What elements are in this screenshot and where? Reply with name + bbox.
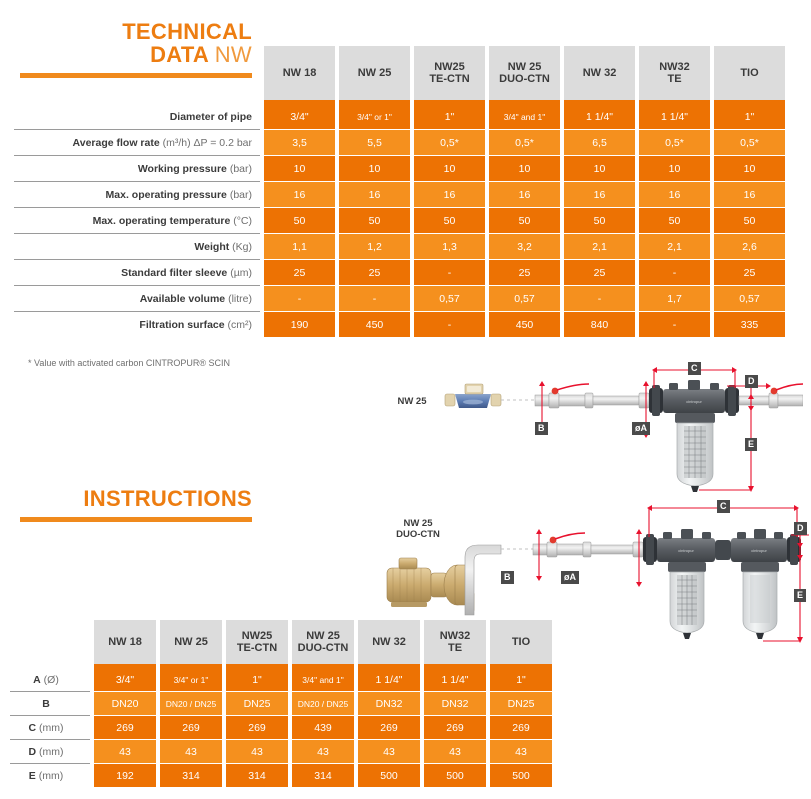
column-header-7[interactable]: TIO [714, 46, 785, 104]
data-cell: 1,3 [414, 234, 485, 259]
svg-text:cintropur: cintropur [751, 548, 767, 553]
diagram-nw25-dim-b: B [535, 422, 548, 435]
data-cell: 16 [264, 182, 335, 207]
diagram-nw25-dim-a: øA [632, 422, 650, 435]
data-cell: 43 [226, 740, 288, 763]
data-cell: 2,1 [564, 234, 635, 259]
valve-left-icon [552, 384, 589, 394]
table-row: Max. operating pressure (bar)16161616161… [14, 182, 785, 207]
instructions-heading: INSTRUCTIONS [20, 487, 252, 522]
table-header-row: NW 18NW 25NW25TE-CTNNW 25DUO-CTNNW 32NW3… [14, 46, 785, 104]
data-cell: 25 [489, 260, 560, 285]
valve-left-duo-icon [550, 533, 585, 543]
column-header-2[interactable]: NW 25 [160, 620, 222, 668]
data-cell: 269 [358, 716, 420, 739]
data-cell: 269 [160, 716, 222, 739]
data-cell: DN32 [424, 692, 486, 715]
table-row: Average flow rate (m³/h) ΔP = 0.2 bar3,5… [14, 130, 785, 155]
data-cell: DN25 [490, 692, 552, 715]
table-row: C (mm)269269269439269269269 [10, 716, 552, 739]
table-header-row: NW 18NW 25NW25TE-CTNNW 25DUO-CTNNW 32NW3… [10, 620, 552, 668]
column-header-6[interactable]: NW32TE [639, 46, 710, 104]
data-cell: 0,5* [414, 130, 485, 155]
data-cell: DN32 [358, 692, 420, 715]
data-cell: 1,2 [339, 234, 410, 259]
column-header-7[interactable]: TIO [490, 620, 552, 668]
data-cell: - [414, 260, 485, 285]
technical-data-table: NW 18NW 25NW25TE-CTNNW 25DUO-CTNNW 32NW3… [14, 46, 785, 337]
column-header-4[interactable]: NW 25DUO-CTN [489, 46, 560, 104]
column-header-5[interactable]: NW 32 [564, 46, 635, 104]
data-cell: 3/4" [264, 104, 335, 129]
data-cell: 16 [714, 182, 785, 207]
diagram-nw25-dim-c: C [688, 362, 701, 375]
data-cell: 190 [264, 312, 335, 337]
table-row: BDN20DN20 / DN25DN25DN20 / DN25DN32DN32D… [10, 692, 552, 715]
data-cell: 0,5* [639, 130, 710, 155]
column-header-4[interactable]: NW 25DUO-CTN [292, 620, 354, 668]
data-cell: 439 [292, 716, 354, 739]
diagram-duo-dim-a: øA [561, 571, 579, 584]
data-cell: 1" [714, 104, 785, 129]
water-meter-icon [445, 384, 501, 408]
data-cell: 3,5 [264, 130, 335, 155]
table-corner-cell [10, 620, 90, 668]
data-cell: 1 1/4" [564, 104, 635, 129]
row-label: Available volume (litre) [14, 286, 260, 311]
data-cell: 0,57 [414, 286, 485, 311]
data-cell: 10 [339, 156, 410, 181]
data-cell: 10 [564, 156, 635, 181]
data-cell: 500 [358, 764, 420, 787]
instructions-heading-rule [20, 517, 252, 522]
data-cell: 314 [226, 764, 288, 787]
data-cell: 0,57 [714, 286, 785, 311]
column-header-5[interactable]: NW 32 [358, 620, 420, 668]
data-cell: 25 [339, 260, 410, 285]
data-cell: 16 [639, 182, 710, 207]
instructions-heading-text: INSTRUCTIONS [20, 487, 252, 510]
svg-text:cintropur: cintropur [686, 399, 702, 404]
row-label: Max. operating temperature (°C) [14, 208, 260, 233]
data-cell: 16 [489, 182, 560, 207]
data-cell: 1" [414, 104, 485, 129]
data-cell: 1 1/4" [424, 668, 486, 691]
row-label: Working pressure (bar) [14, 156, 260, 181]
data-cell: 43 [160, 740, 222, 763]
data-cell: - [339, 286, 410, 311]
diagram-nw25-model-label: NW 25 [390, 396, 434, 407]
data-cell: 335 [714, 312, 785, 337]
diagram-nw25-illustration: cintropur [383, 358, 803, 498]
column-header-3[interactable]: NW25TE-CTN [226, 620, 288, 668]
row-label: A (Ø) [10, 668, 90, 691]
data-cell: - [639, 312, 710, 337]
data-cell: 50 [489, 208, 560, 233]
data-cell: 2,1 [639, 234, 710, 259]
data-cell: 450 [489, 312, 560, 337]
diagram-duo-model-line-2: DUO-CTN [396, 529, 440, 540]
data-cell: 3/4" and 1" [489, 104, 560, 129]
data-cell: - [264, 286, 335, 311]
table-corner-cell [14, 46, 260, 104]
column-header-3[interactable]: NW25TE-CTN [414, 46, 485, 104]
data-cell: 16 [414, 182, 485, 207]
data-cell: 269 [94, 716, 156, 739]
diagram-duo-model-label: NW 25 DUO-CTN [383, 518, 453, 540]
data-cell: 5,5 [339, 130, 410, 155]
technical-data-grid: NW 18NW 25NW25TE-CTNNW 25DUO-CTNNW 32NW3… [14, 46, 785, 337]
data-cell: 500 [424, 764, 486, 787]
data-cell: 3/4" or 1" [339, 104, 410, 129]
diagram-duo-model-line-1: NW 25 [403, 518, 432, 529]
data-cell: 1" [490, 668, 552, 691]
diagram-nw25: NW 25 [383, 358, 803, 498]
table-row: E (mm)192314314314500500500 [10, 764, 552, 787]
technical-datasheet-page: TECHNICAL DATA NW NW 18NW 25NW25TE-CTNNW… [0, 0, 811, 799]
data-cell: 10 [414, 156, 485, 181]
data-cell: 43 [490, 740, 552, 763]
table-row: Weight (Kg)1,11,21,33,22,12,12,6 [14, 234, 785, 259]
table-row: Diameter of pipe3/4"3/4" or 1"1"3/4" and… [14, 104, 785, 129]
data-cell: 16 [564, 182, 635, 207]
data-cell: 50 [714, 208, 785, 233]
data-cell: 43 [424, 740, 486, 763]
diagram-duo-dim-b: B [501, 571, 514, 584]
diagram-nw25-dim-d: D [745, 375, 758, 388]
data-cell: 10 [489, 156, 560, 181]
diagram-nw25-dim-e: E [745, 438, 757, 451]
data-cell: DN20 [94, 692, 156, 715]
data-cell: 43 [94, 740, 156, 763]
data-cell: 25 [564, 260, 635, 285]
data-cell: 50 [264, 208, 335, 233]
data-cell: 50 [564, 208, 635, 233]
data-cell: - [564, 286, 635, 311]
data-cell: 3/4" or 1" [160, 668, 222, 691]
row-label: B [10, 692, 90, 715]
data-cell: 3/4" and 1" [292, 668, 354, 691]
row-label: Average flow rate (m³/h) ΔP = 0.2 bar [14, 130, 260, 155]
technical-data-footnote: * Value with activated carbon CINTROPUR®… [28, 358, 230, 368]
column-header-6[interactable]: NW32TE [424, 620, 486, 668]
diagram-duo-dim-d: D [794, 522, 807, 535]
data-cell: 50 [339, 208, 410, 233]
data-cell: 10 [264, 156, 335, 181]
valve-right-icon [771, 384, 803, 394]
row-label: Weight (Kg) [14, 234, 260, 259]
data-cell: 50 [639, 208, 710, 233]
table-row: Max. operating temperature (°C)505050505… [14, 208, 785, 233]
data-cell: 1" [226, 668, 288, 691]
data-cell: 2,6 [714, 234, 785, 259]
svg-text:cintropur: cintropur [678, 548, 694, 553]
data-cell: 192 [94, 764, 156, 787]
data-cell: 6,5 [564, 130, 635, 155]
data-cell: 1,7 [639, 286, 710, 311]
data-cell: 500 [490, 764, 552, 787]
diagram-duo-dim-e: E [794, 589, 806, 602]
data-cell: - [639, 260, 710, 285]
data-cell: 10 [714, 156, 785, 181]
data-cell: 25 [264, 260, 335, 285]
data-cell: 314 [160, 764, 222, 787]
column-header-2[interactable]: NW 25 [339, 46, 410, 104]
data-cell: 10 [639, 156, 710, 181]
column-header-1[interactable]: NW 18 [94, 620, 156, 668]
data-cell: 1,1 [264, 234, 335, 259]
data-cell: 1 1/4" [358, 668, 420, 691]
data-cell: 0,5* [489, 130, 560, 155]
data-cell: 269 [490, 716, 552, 739]
row-label: D (mm) [10, 740, 90, 763]
pump-icon [387, 558, 474, 612]
diagram-duo-dim-c: C [717, 500, 730, 513]
data-cell: DN25 [226, 692, 288, 715]
data-cell: 3,2 [489, 234, 560, 259]
data-cell: 0,5* [714, 130, 785, 155]
data-cell: 314 [292, 764, 354, 787]
data-cell: 450 [339, 312, 410, 337]
table-row: A (Ø)3/4"3/4" or 1"1"3/4" and 1"1 1/4"1 … [10, 668, 552, 691]
data-cell: 50 [414, 208, 485, 233]
instructions-grid: NW 18NW 25NW25TE-CTNNW 25DUO-CTNNW 32NW3… [10, 620, 552, 787]
data-cell: 0,57 [489, 286, 560, 311]
row-label: Standard filter sleeve (µm) [14, 260, 260, 285]
data-cell: 25 [714, 260, 785, 285]
data-cell: 840 [564, 312, 635, 337]
row-label: E (mm) [10, 764, 90, 787]
table-row: Filtration surface (cm²)190450-450840-33… [14, 312, 785, 337]
instructions-table: NW 18NW 25NW25TE-CTNNW 25DUO-CTNNW 32NW3… [10, 620, 552, 787]
data-cell: 1 1/4" [639, 104, 710, 129]
row-label: Max. operating pressure (bar) [14, 182, 260, 207]
row-label: Filtration surface (cm²) [14, 312, 260, 337]
table-row: Available volume (litre)--0,570,57-1,70,… [14, 286, 785, 311]
data-cell: DN20 / DN25 [160, 692, 222, 715]
data-cell: 43 [358, 740, 420, 763]
table-row: D (mm)43434343434343 [10, 740, 552, 763]
row-label: C (mm) [10, 716, 90, 739]
data-cell: 16 [339, 182, 410, 207]
data-cell: 269 [226, 716, 288, 739]
table-row: Working pressure (bar)10101010101010 [14, 156, 785, 181]
data-cell: - [414, 312, 485, 337]
heading-line-1: TECHNICAL [20, 20, 252, 43]
data-cell: 43 [292, 740, 354, 763]
data-cell: DN20 / DN25 [292, 692, 354, 715]
row-label: Diameter of pipe [14, 104, 260, 129]
data-cell: 3/4" [94, 668, 156, 691]
data-cell: 269 [424, 716, 486, 739]
column-header-1[interactable]: NW 18 [264, 46, 335, 104]
table-row: Standard filter sleeve (µm)2525-2525-25 [14, 260, 785, 285]
